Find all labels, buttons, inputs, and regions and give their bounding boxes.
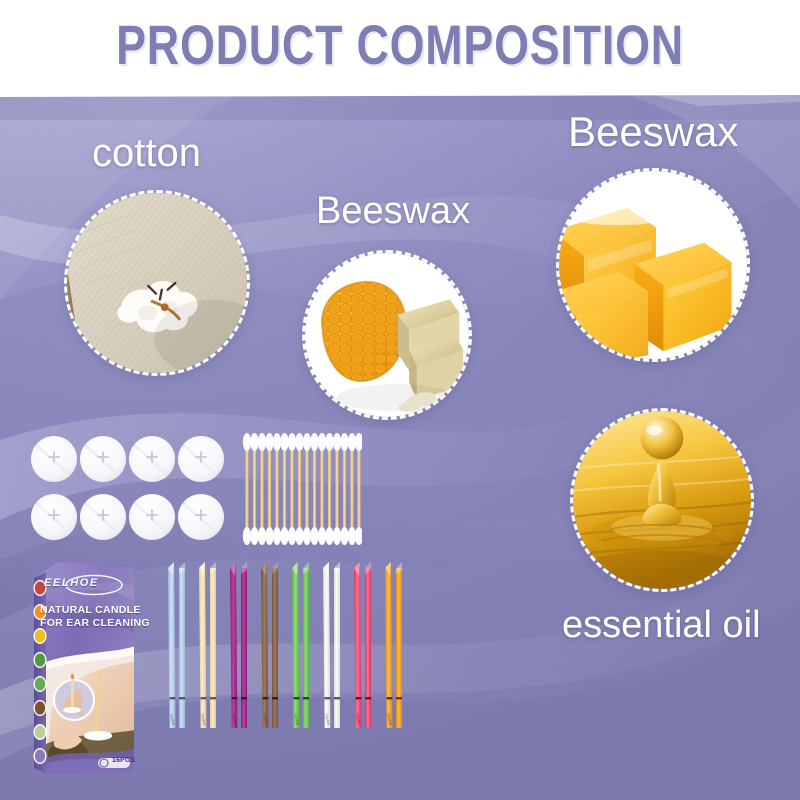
cotton-swabs-group (240, 430, 362, 546)
label-essential-oil: essential oil (562, 604, 761, 647)
ingredient-circle-essential-oil (570, 408, 754, 592)
product-box (24, 558, 146, 778)
beeswax-blocks-photo (559, 171, 747, 359)
box-brand-name: EELHOE (44, 577, 99, 589)
box-title-line-2: FOR EAR CLEANING (40, 617, 150, 629)
ingredient-circle-cotton (64, 190, 250, 376)
ear-candles-group: Herbal Herbal Herbal Herbal Herbal Herba… (162, 556, 414, 736)
ingredient-circle-honeycomb (302, 250, 472, 420)
page-title: PRODUCT COMPOSITION (80, 14, 720, 76)
essential-oil-photo (573, 411, 751, 589)
ingredient-circle-beeswax-blocks (556, 168, 750, 362)
box-quantity-badge: 16PCS (112, 757, 135, 764)
protective-ear-discs-group (28, 428, 228, 548)
infographic-canvas: PRODUCT COMPOSITION cotton (0, 0, 800, 800)
cotton-photo (67, 193, 247, 373)
label-beeswax-top: Beeswax (568, 108, 738, 156)
honeycomb-photo (305, 253, 469, 417)
label-cotton: cotton (92, 131, 201, 176)
label-beeswax-middle: Beeswax (316, 190, 470, 233)
box-title-line-1: NATURAL CANDLE (40, 604, 141, 616)
